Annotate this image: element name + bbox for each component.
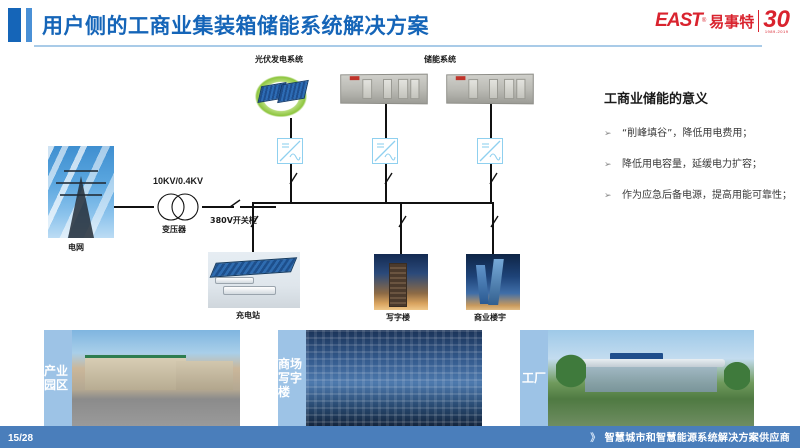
info-bullet-text-1: “削峰填谷”，降低用电费用；: [622, 126, 752, 142]
page-number: 15/28: [8, 433, 33, 444]
label-office-building: 写字楼: [386, 312, 410, 323]
info-bullet-item-2: ➢ 降低用电容量，延缓电力扩容；: [604, 157, 792, 173]
label-storage-system: 储能系统: [424, 54, 456, 65]
label-charging-station: 充电站: [236, 310, 260, 321]
strip-tab-label-1: 产业园区: [44, 330, 72, 426]
wire-pv-to-inverter: [290, 118, 292, 138]
info-panel-title: 工商业储能的意义: [604, 88, 792, 107]
label-transformer: 变压器: [162, 224, 186, 235]
page-title: 用户侧的工商业集装箱储能系统解决方案: [42, 10, 429, 40]
strip-tab-label-2: 商场写字楼: [278, 330, 306, 426]
title-divider: [34, 45, 762, 47]
label-commercial-building: 商业楼宇: [474, 312, 506, 323]
info-panel: 工商业储能的意义 ➢ “削峰填谷”，降低用电费用； ➢ 降低用电容量，延缓电力扩…: [604, 88, 792, 219]
industrial-park-photo: [72, 330, 240, 426]
strip-card-industrial-park: 产业园区: [44, 330, 240, 426]
double-chevron-icon: 》: [590, 433, 600, 444]
logo-divider: [758, 10, 759, 32]
info-bullet-item-1: ➢ “削峰填谷”，降低用电费用；: [604, 126, 792, 142]
charging-station-photo: [208, 252, 300, 308]
info-bullet-item-3: ➢ 作为应急后备电源，提高用能可靠性；: [604, 188, 792, 204]
office-building-photo: [374, 254, 428, 310]
wire-storage1-to-inverter: [385, 104, 387, 138]
circuit-breaker-storage-2: [486, 172, 500, 191]
title-accent-bar-primary: [8, 8, 21, 42]
system-diagram: 光伏发电系统 储能系统: [0, 52, 580, 322]
circuit-breaker-storage-1: [381, 172, 395, 191]
info-bullet-text-3: 作为应急后备电源，提高用能可靠性；: [622, 188, 792, 204]
chevron-right-icon: ➢: [604, 157, 622, 173]
application-photo-strip: 产业园区 商场写字楼 工厂: [0, 330, 800, 426]
power-grid-tower-photo: [48, 146, 114, 238]
circuit-breaker-commercial: [488, 214, 502, 235]
wire-grid-to-transformer: [114, 206, 154, 208]
commercial-building-photo: [466, 254, 520, 310]
strip-card-factory: 工厂: [520, 330, 754, 426]
wire-storage2-to-inverter: [490, 104, 492, 138]
logo-brand-en: EAST: [655, 10, 702, 32]
label-voltage-level: 10KV/0.4KV: [153, 176, 203, 186]
footer-tagline-group: 》智慧城市和智慧能源系统解决方案供应商: [590, 429, 790, 444]
wire-busbar-entry: [240, 206, 276, 208]
chevron-right-icon: ➢: [604, 188, 622, 204]
strip-card-mall-office: 商场写字楼: [278, 330, 482, 426]
mall-office-photo: [306, 330, 482, 426]
inverter-symbol-storage-1: [372, 138, 398, 164]
pv-array-photo: [248, 70, 314, 118]
circuit-breaker-charging: [248, 214, 262, 235]
title-accent-bar-secondary: [26, 8, 32, 42]
footer-bar: 15/28 》智慧城市和智慧能源系统解决方案供应商: [0, 426, 800, 448]
logo-anniversary-group: 30 1989-2019: [763, 9, 790, 34]
logo-anniversary-number: 30: [763, 9, 790, 31]
inverter-symbol-pv: [277, 138, 303, 164]
storage-container-photo-1: [340, 74, 428, 105]
label-pv-system: 光伏发电系统: [255, 54, 303, 65]
circuit-breaker-pv: [286, 172, 300, 191]
logo-anniversary-years: 1989-2019: [763, 29, 790, 34]
footer-tagline: 智慧城市和智慧能源系统解决方案供应商: [605, 433, 790, 444]
circuit-breaker-office: [396, 214, 410, 235]
busbar-main: [252, 202, 492, 204]
transformer-symbol: [154, 192, 202, 227]
company-logo: EAST ® 易事特 30 1989-2019: [655, 6, 790, 36]
strip-tab-label-3: 工厂: [520, 330, 548, 426]
chevron-right-icon: ➢: [604, 126, 622, 142]
storage-container-photo-2: [446, 74, 534, 105]
logo-registered-mark: ®: [702, 18, 706, 24]
logo-brand-cn: 易事特: [709, 11, 754, 32]
info-bullet-text-2: 降低用电容量，延缓电力扩容；: [622, 157, 762, 173]
label-grid: 电网: [68, 242, 84, 253]
inverter-symbol-storage-2: [477, 138, 503, 164]
slide-root: 用户侧的工商业集装箱储能系统解决方案 EAST ® 易事特 30 1989-20…: [0, 0, 800, 448]
factory-photo: [548, 330, 754, 426]
